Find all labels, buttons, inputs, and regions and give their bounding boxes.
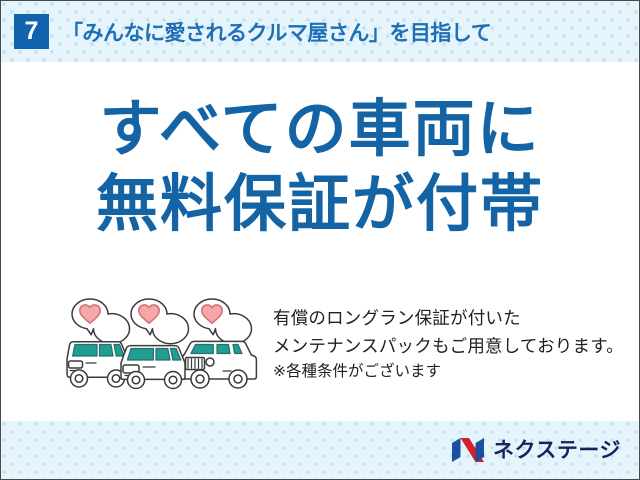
body-copy-note: ※各種条件がございます (273, 360, 624, 384)
headline-line-2: 無料保証が付帯 (1, 172, 639, 239)
car-suv-right (183, 341, 257, 388)
brand-logo: ネクステージ (451, 435, 621, 465)
body-copy-line-1: 有償のロングラン保証が付いた (273, 305, 624, 333)
heart-bubble-center (131, 299, 188, 344)
header-title: 「みんなに愛されるクルマ屋さん」を目指して (62, 17, 491, 47)
header: 7 「みんなに愛されるクルマ屋さん」を目指して (1, 1, 639, 62)
car-van-left (67, 342, 128, 387)
headline: すべての車両に 無料保証が付帯 (1, 97, 639, 239)
car-minivan-center (121, 346, 185, 389)
brand-wordmark: ネクステージ (493, 440, 621, 461)
heart-bubble-left (72, 299, 129, 344)
headline-line-1: すべての車両に (1, 97, 639, 164)
body-copy-line-2: メンテナンスパックもご用意しております。 (273, 333, 624, 361)
promo-slide: 7 「みんなに愛されるクルマ屋さん」を目指して すべての車両に 無料保証が付帯 (0, 0, 640, 480)
heart-bubble-right (194, 299, 251, 344)
nexstage-n-mark-icon (451, 437, 485, 463)
lower-section: 有償のロングラン保証が付いた メンテナンスパックもご用意しております。 ※各種条… (1, 289, 639, 407)
step-number-badge: 7 (14, 14, 49, 49)
three-cars-with-heart-bubbles-illustration (53, 293, 265, 405)
body-copy: 有償のロングラン保証が付いた メンテナンスパックもご用意しております。 ※各種条… (273, 305, 624, 385)
